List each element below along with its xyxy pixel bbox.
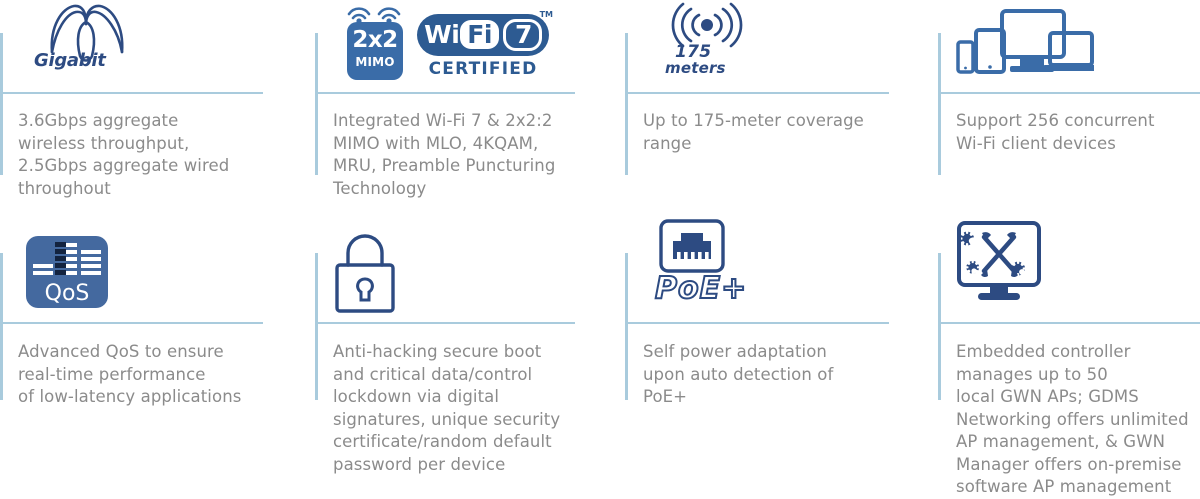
certified-label: CERTIFIED [417, 59, 549, 79]
icon-zone: PoE+ [625, 215, 938, 322]
wifi-wi-text: Wi [424, 20, 459, 49]
poe-label: PoE+ [655, 271, 747, 306]
feature-description: Support 256 concurrent Wi-Fi client devi… [956, 110, 1196, 155]
feature-description: Up to 175-meter coverage range [643, 110, 898, 155]
horizontal-rule [627, 92, 889, 94]
feature-cell-poe: PoE+ Self power adaptation upon auto det… [625, 215, 938, 487]
feature-cell-controller: Embedded controller manages up to 50 loc… [938, 215, 1200, 487]
horizontal-rule [940, 92, 1200, 94]
multi-devices-icon [954, 6, 1094, 86]
wifi-fi-text: Fi [460, 20, 499, 49]
feature-cell-security: Anti-hacking secure boot and critical da… [315, 215, 625, 487]
horizontal-rule [940, 322, 1200, 324]
icon-zone [938, 215, 1200, 322]
gigabit-label: Gigabit [34, 50, 106, 71]
qos-equalizer-icon: QoS [26, 236, 108, 308]
icon-zone: 2x2 MIMO WiFi7 TM CERTIFIED [315, 0, 625, 92]
feature-cell-gigabit: Gigabit 3.6Gbps aggregate wireless throu… [0, 0, 315, 215]
wifi-seven-text: 7 [503, 19, 542, 51]
mimo-bottom-label: MIMO [347, 55, 403, 69]
icon-zone: Gigabit [0, 0, 315, 92]
feature-description: Self power adaptation upon auto detectio… [643, 341, 898, 409]
feature-description: Anti-hacking secure boot and critical da… [333, 341, 583, 476]
coverage-distance-unit: meters [665, 59, 726, 77]
wifi7-certified-icon: WiFi7 TM CERTIFIED [417, 14, 557, 102]
feature-description: Advanced QoS to ensure real-time perform… [18, 341, 273, 409]
icon-zone: QoS [0, 215, 315, 322]
padlock-icon [331, 229, 405, 315]
poe-icon-group: PoE+ [655, 215, 775, 315]
horizontal-rule [2, 322, 263, 324]
horizontal-rule [317, 322, 575, 324]
feature-description: 3.6Gbps aggregate wireless throughput, 2… [18, 110, 270, 200]
monitor-tools-icon [954, 217, 1046, 309]
icon-zone: 175 meters [625, 0, 938, 92]
qos-label: QoS [26, 281, 108, 306]
trademark-label: TM [540, 10, 553, 19]
icon-zone [315, 215, 625, 322]
mimo-top-label: 2x2 [347, 25, 403, 55]
horizontal-rule [2, 92, 263, 94]
feature-cell-clients: Support 256 concurrent Wi-Fi client devi… [938, 0, 1200, 215]
feature-grid: Gigabit 3.6Gbps aggregate wireless throu… [0, 0, 1200, 487]
icon-zone [938, 0, 1200, 92]
signal-waves-icon: 175 meters [653, 0, 763, 88]
gigabit-wings-icon: Gigabit [28, 0, 148, 88]
ethernet-port-icon [659, 219, 725, 275]
mimo-badge: 2x2 MIMO [347, 22, 403, 80]
horizontal-rule [627, 322, 889, 324]
feature-description: Integrated Wi-Fi 7 & 2x2:2 MIMO with MLO… [333, 110, 583, 200]
feature-cell-wifi7: 2x2 MIMO WiFi7 TM CERTIFIED Integrated W… [315, 0, 625, 215]
feature-cell-coverage: 175 meters Up to 175-meter coverage rang… [625, 0, 938, 215]
feature-description: Embedded controller manages up to 50 loc… [956, 341, 1200, 499]
wifi7-pill: WiFi7 TM [417, 14, 549, 56]
feature-cell-qos: QoS Advanced QoS to ensure real-time per… [0, 215, 315, 487]
wifi7-wordmark: WiFi7 [424, 19, 542, 51]
mimo-2x2-icon: 2x2 MIMO [339, 0, 413, 88]
